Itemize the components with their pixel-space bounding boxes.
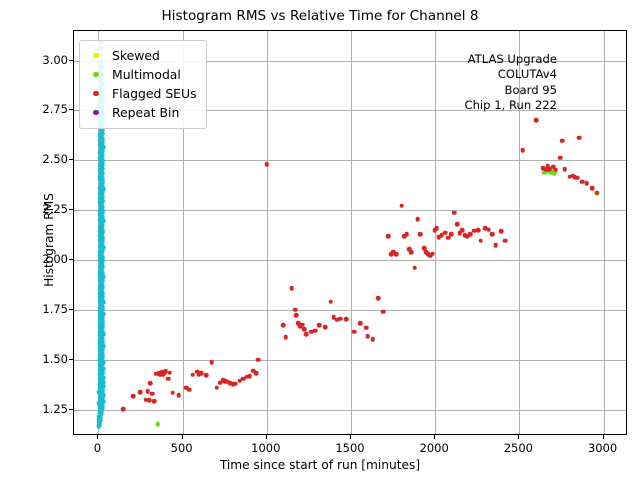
data-point xyxy=(313,328,318,333)
data-point xyxy=(407,247,412,252)
data-point xyxy=(241,376,246,381)
data-point xyxy=(99,280,104,285)
data-point xyxy=(389,252,394,257)
data-point xyxy=(99,302,104,307)
legend-item-label: Skewed xyxy=(112,48,160,63)
data-point xyxy=(204,373,209,378)
x-tick-label: 0 xyxy=(94,441,101,455)
data-point xyxy=(577,135,582,140)
data-point xyxy=(100,254,105,259)
data-point xyxy=(344,317,349,322)
x-tick-label: 2000 xyxy=(420,441,449,455)
data-point xyxy=(553,169,558,174)
data-point xyxy=(100,319,105,324)
data-point xyxy=(99,394,104,399)
data-point xyxy=(99,350,104,355)
data-point xyxy=(254,371,259,376)
data-point xyxy=(100,131,105,136)
data-point xyxy=(99,293,104,298)
data-point xyxy=(99,288,104,293)
data-point xyxy=(152,399,157,404)
data-point xyxy=(366,334,371,339)
data-point xyxy=(575,176,580,181)
data-point xyxy=(99,316,104,321)
data-point xyxy=(100,348,105,353)
data-point xyxy=(99,261,104,266)
data-point xyxy=(101,380,106,385)
data-point xyxy=(99,213,104,218)
x-axis-label: Time since start of run [minutes] xyxy=(0,458,640,472)
data-point xyxy=(163,369,168,374)
data-point xyxy=(483,226,488,231)
data-point xyxy=(465,234,470,239)
data-point xyxy=(100,315,105,320)
data-point xyxy=(184,385,189,390)
data-point xyxy=(100,194,105,199)
gridline-horizontal xyxy=(74,410,626,411)
x-tick-label: 3000 xyxy=(588,441,617,455)
legend-marker-icon xyxy=(87,53,105,58)
data-point xyxy=(154,371,159,376)
data-point xyxy=(100,321,105,326)
legend-item-flagged-seus[interactable]: Flagged SEUs xyxy=(87,84,197,103)
legend-item-label: Flagged SEUs xyxy=(112,86,197,101)
data-point xyxy=(100,283,105,288)
data-point xyxy=(99,201,104,206)
x-tick-mark xyxy=(97,435,98,439)
data-point xyxy=(100,140,105,145)
data-point xyxy=(195,369,200,374)
data-point xyxy=(402,234,407,239)
annotation-line: Chip 1, Run 222 xyxy=(464,98,557,113)
data-point xyxy=(100,167,105,172)
data-point xyxy=(418,232,423,237)
data-point xyxy=(99,331,104,336)
legend-item-multimodal[interactable]: Multimodal xyxy=(87,65,197,84)
data-point xyxy=(100,271,105,276)
data-point xyxy=(99,323,104,328)
data-point xyxy=(100,171,105,176)
gridline-vertical xyxy=(267,31,268,434)
data-point xyxy=(251,368,256,373)
data-point xyxy=(580,180,585,185)
gridline-vertical xyxy=(604,31,605,434)
data-point xyxy=(99,155,104,160)
data-point xyxy=(101,145,106,150)
data-point xyxy=(302,327,307,332)
data-point xyxy=(100,362,105,367)
data-point xyxy=(100,352,105,357)
data-point xyxy=(304,332,309,337)
data-point xyxy=(101,219,106,224)
data-point xyxy=(99,232,104,237)
data-point xyxy=(101,400,106,405)
data-point xyxy=(100,336,105,341)
data-point xyxy=(99,262,104,267)
data-point xyxy=(309,330,314,335)
data-point xyxy=(99,134,104,139)
data-point xyxy=(100,223,105,228)
data-point xyxy=(281,323,286,328)
gridline-vertical xyxy=(435,31,436,434)
y-axis-label: Histogram RMS xyxy=(42,120,56,360)
data-point xyxy=(449,232,454,237)
data-point xyxy=(100,285,105,290)
y-axis-label-wrapper: Histogram RMS xyxy=(14,0,34,480)
data-point xyxy=(168,370,173,375)
data-point xyxy=(100,397,105,402)
data-point xyxy=(332,315,337,320)
data-point xyxy=(99,411,104,416)
data-point xyxy=(99,129,104,134)
legend-item-skewed[interactable]: Skewed xyxy=(87,46,197,65)
data-point xyxy=(503,239,508,244)
data-point xyxy=(490,232,495,237)
legend-marker-icon xyxy=(87,91,105,96)
data-point xyxy=(338,316,343,321)
data-point xyxy=(100,180,105,185)
data-point xyxy=(570,174,575,179)
data-point xyxy=(545,169,550,174)
data-point xyxy=(100,266,105,271)
data-point xyxy=(549,170,554,175)
data-point xyxy=(412,265,417,270)
data-point xyxy=(99,272,104,277)
data-point xyxy=(476,228,481,233)
data-point xyxy=(298,324,303,329)
data-point xyxy=(394,252,399,257)
data-point xyxy=(100,198,105,203)
data-point xyxy=(424,250,429,255)
data-point xyxy=(553,168,558,173)
data-point xyxy=(415,217,420,222)
data-point xyxy=(100,237,105,242)
data-point xyxy=(100,279,105,284)
data-point xyxy=(100,230,105,235)
y-tick-mark xyxy=(69,309,73,310)
data-point xyxy=(138,390,143,395)
data-point xyxy=(99,379,104,384)
data-point xyxy=(100,185,105,190)
data-point xyxy=(100,204,105,209)
data-point xyxy=(551,169,556,174)
data-point xyxy=(101,384,106,389)
data-point xyxy=(595,191,600,196)
data-point xyxy=(550,168,555,173)
annotation-line: ATLAS Upgrade xyxy=(464,52,557,67)
data-point xyxy=(560,138,565,143)
data-point xyxy=(100,342,105,347)
y-tick-mark xyxy=(69,409,73,410)
data-point xyxy=(99,251,104,256)
data-point xyxy=(99,184,104,189)
data-point xyxy=(478,239,483,244)
data-point xyxy=(196,372,201,377)
legend-marker-icon xyxy=(87,110,105,115)
data-point xyxy=(100,340,105,345)
data-point xyxy=(162,370,167,375)
data-point xyxy=(190,372,195,377)
data-point xyxy=(547,168,552,173)
x-tick-label: 2500 xyxy=(504,441,533,455)
data-point xyxy=(460,228,465,233)
data-point xyxy=(100,304,105,309)
data-point xyxy=(430,251,435,256)
data-point xyxy=(101,274,106,279)
legend[interactable]: SkewedMultimodalFlagged SEUsRepeat Bin xyxy=(79,40,207,129)
data-point xyxy=(225,379,230,384)
data-point xyxy=(446,235,451,240)
data-point xyxy=(100,228,105,233)
data-point xyxy=(317,323,322,328)
data-point xyxy=(358,321,363,326)
data-point xyxy=(100,214,105,219)
data-point xyxy=(100,276,105,281)
data-point xyxy=(155,422,160,427)
data-point xyxy=(99,188,104,193)
data-point xyxy=(234,381,239,386)
data-point xyxy=(552,171,557,176)
data-point xyxy=(370,337,375,342)
x-tick-mark xyxy=(603,435,604,439)
legend-item-repeat-bin[interactable]: Repeat Bin xyxy=(87,103,197,122)
data-point xyxy=(101,246,106,251)
data-point xyxy=(100,377,105,382)
data-point xyxy=(170,390,175,395)
data-point xyxy=(457,231,462,236)
x-tick-label: 1000 xyxy=(251,441,280,455)
data-point xyxy=(568,174,573,179)
data-point xyxy=(455,222,460,227)
data-point xyxy=(100,298,105,303)
data-point xyxy=(100,294,105,299)
data-point xyxy=(99,175,104,180)
data-point xyxy=(160,370,165,375)
data-point xyxy=(99,136,104,141)
data-point xyxy=(101,393,106,398)
data-point xyxy=(101,187,106,192)
data-point xyxy=(101,312,106,317)
data-point xyxy=(100,243,105,248)
gridline-horizontal xyxy=(74,210,626,211)
data-point xyxy=(468,232,473,237)
data-point xyxy=(99,269,104,274)
data-point xyxy=(150,391,155,396)
data-point xyxy=(100,199,105,204)
data-point xyxy=(100,371,105,376)
data-point xyxy=(99,252,104,257)
data-point xyxy=(100,154,105,159)
data-point xyxy=(99,354,104,359)
data-point xyxy=(99,231,104,236)
data-point xyxy=(428,253,433,258)
data-point xyxy=(231,382,236,387)
data-point xyxy=(584,181,589,186)
y-tick-mark xyxy=(69,109,73,110)
data-point xyxy=(364,326,369,331)
data-point xyxy=(494,243,499,248)
data-point xyxy=(463,233,468,238)
legend-item-label: Repeat Bin xyxy=(112,105,179,120)
data-point xyxy=(100,137,105,142)
gridline-horizontal xyxy=(74,260,626,261)
data-point xyxy=(199,371,204,376)
annotation-line: Board 95 xyxy=(464,83,557,98)
data-point xyxy=(399,203,404,208)
data-point xyxy=(100,239,105,244)
data-point xyxy=(99,211,104,216)
data-point xyxy=(99,326,104,331)
gridline-horizontal xyxy=(74,360,626,361)
data-point xyxy=(99,166,104,171)
data-point xyxy=(542,171,547,176)
data-point xyxy=(223,379,228,384)
data-point xyxy=(99,373,104,378)
data-point xyxy=(99,151,104,156)
data-point xyxy=(100,176,105,181)
data-point xyxy=(143,397,148,402)
y-tick-mark xyxy=(69,159,73,160)
legend-item-label: Multimodal xyxy=(112,67,181,82)
data-point xyxy=(328,299,333,304)
data-point xyxy=(439,233,444,238)
x-tick-label: 500 xyxy=(171,441,193,455)
y-tick-mark xyxy=(69,60,73,61)
y-tick-label: 2.75 xyxy=(42,102,68,116)
data-point xyxy=(158,372,163,377)
data-point xyxy=(100,162,105,167)
data-point xyxy=(294,313,299,318)
data-point xyxy=(157,371,162,376)
data-point xyxy=(101,300,106,305)
y-tick-mark xyxy=(69,209,73,210)
annotation-line: COLUTAv4 xyxy=(464,67,557,82)
x-tick-mark xyxy=(350,435,351,439)
data-point xyxy=(100,217,105,222)
data-point xyxy=(99,282,104,287)
data-point xyxy=(161,372,166,377)
data-point xyxy=(100,395,105,400)
data-point xyxy=(100,386,105,391)
data-point xyxy=(595,190,600,195)
x-tick-mark xyxy=(434,435,435,439)
gridline-horizontal xyxy=(74,310,626,311)
data-point xyxy=(99,241,104,246)
figure-canvas: Histogram RMS vs Relative Time for Chann… xyxy=(0,0,640,480)
data-point xyxy=(101,366,106,371)
data-point xyxy=(563,167,568,172)
x-tick-mark xyxy=(182,435,183,439)
data-point xyxy=(486,227,491,232)
gridline-horizontal xyxy=(74,160,626,161)
data-point xyxy=(99,165,104,170)
data-point xyxy=(99,267,104,272)
data-point xyxy=(244,374,249,379)
data-point xyxy=(214,385,219,390)
data-point xyxy=(99,192,104,197)
data-point xyxy=(300,322,305,327)
data-point xyxy=(187,387,192,392)
page-title: Histogram RMS vs Relative Time for Chann… xyxy=(0,8,640,24)
data-point xyxy=(247,374,252,379)
data-point xyxy=(520,148,525,153)
data-point xyxy=(99,182,104,187)
data-point xyxy=(422,246,427,251)
data-point xyxy=(99,203,104,208)
data-point xyxy=(228,381,233,386)
data-point xyxy=(99,222,104,227)
data-point xyxy=(99,364,104,369)
data-point xyxy=(99,370,104,375)
data-point xyxy=(100,149,105,154)
data-point xyxy=(100,234,105,239)
data-point xyxy=(100,329,105,334)
data-point xyxy=(221,378,226,383)
data-point xyxy=(131,394,136,399)
data-point xyxy=(443,230,448,235)
data-point xyxy=(472,228,477,233)
x-tick-label: 1500 xyxy=(335,441,364,455)
data-point xyxy=(376,296,381,301)
data-point xyxy=(541,166,546,171)
data-point xyxy=(99,334,104,339)
data-point xyxy=(145,389,150,394)
data-point xyxy=(404,232,409,237)
data-point xyxy=(99,311,104,316)
y-tick-mark xyxy=(69,259,73,260)
data-point xyxy=(100,324,105,329)
data-point xyxy=(545,164,550,169)
y-tick-label: 1.25 xyxy=(42,402,68,416)
data-point xyxy=(100,263,105,268)
data-point xyxy=(100,291,105,296)
data-point xyxy=(335,318,340,323)
y-tick-label: 3.00 xyxy=(42,53,68,67)
gridline-vertical xyxy=(351,31,352,434)
legend-marker-icon xyxy=(87,72,105,77)
data-point xyxy=(391,249,396,254)
data-point xyxy=(101,332,106,337)
data-point xyxy=(547,167,552,172)
data-point xyxy=(148,381,153,386)
data-point xyxy=(551,164,556,169)
data-point xyxy=(352,330,357,335)
data-point xyxy=(426,252,431,257)
x-tick-mark xyxy=(266,435,267,439)
data-point xyxy=(289,286,294,291)
data-point xyxy=(99,148,104,153)
data-point xyxy=(100,389,105,394)
data-point xyxy=(99,139,104,144)
data-point xyxy=(101,344,106,349)
data-point xyxy=(590,186,595,191)
data-point xyxy=(100,190,105,195)
data-point xyxy=(100,249,105,254)
data-point xyxy=(99,226,104,231)
data-point xyxy=(99,242,104,247)
data-point xyxy=(99,339,104,344)
data-point xyxy=(176,393,181,398)
data-point xyxy=(100,404,105,409)
data-point xyxy=(99,130,104,135)
data-point xyxy=(99,172,104,177)
data-point xyxy=(499,229,504,234)
data-point xyxy=(99,289,104,294)
data-point xyxy=(572,175,577,180)
data-point xyxy=(296,321,301,326)
data-point xyxy=(99,391,104,396)
data-point xyxy=(386,234,391,239)
